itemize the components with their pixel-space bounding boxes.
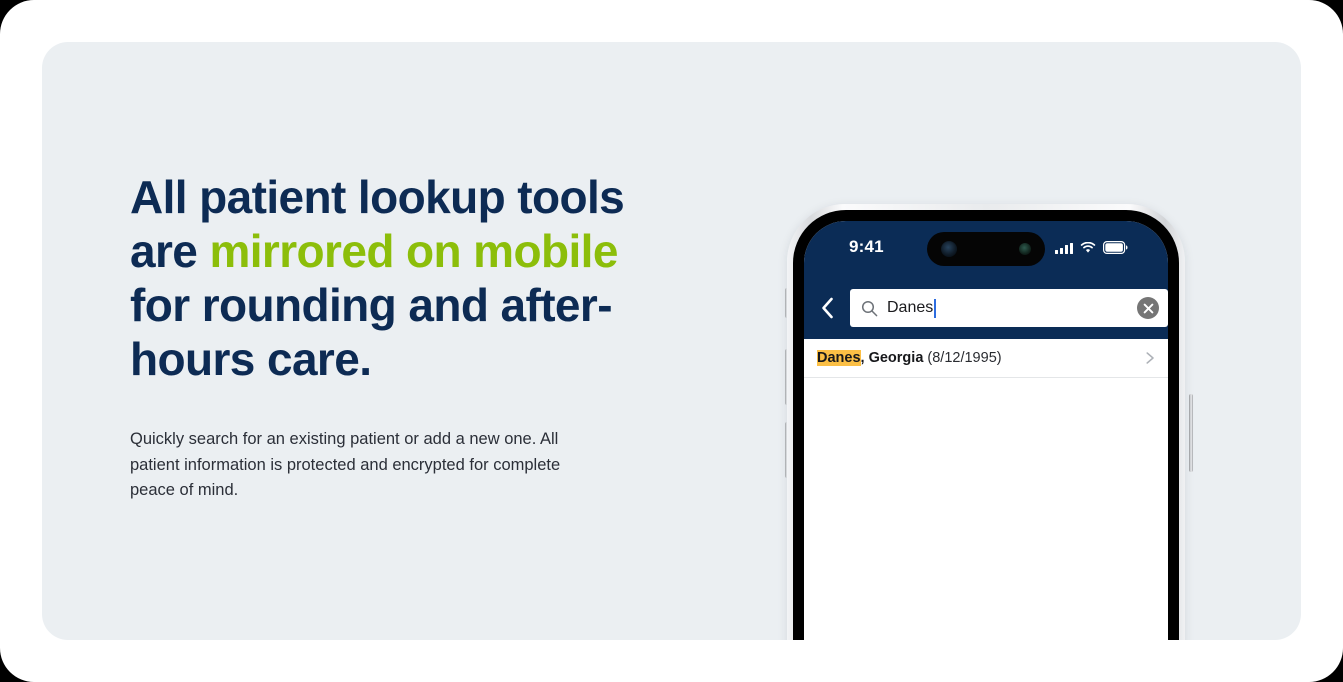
front-camera-icon: [941, 241, 957, 257]
phone-screen: 9:41: [804, 221, 1168, 640]
patient-dob: (8/12/1995): [923, 350, 1001, 366]
patient-result-label: Danes, Georgia (8/12/1995): [817, 350, 1144, 366]
clear-search-button[interactable]: [1137, 297, 1159, 319]
wifi-icon: [1080, 242, 1096, 254]
text-caret: [934, 299, 936, 318]
headline-accent: mirrored on mobile: [209, 225, 617, 277]
phone-mockup: 9:41: [787, 204, 1191, 640]
table-row[interactable]: Danes, Georgia (8/12/1995): [804, 339, 1168, 378]
battery-icon: [1103, 241, 1128, 254]
dynamic-island: [927, 232, 1045, 266]
marketing-page: All patient lookup tools are mirrored on…: [0, 0, 1343, 682]
subcopy-paragraph: Quickly search for an existing patient o…: [130, 386, 600, 504]
status-bar: 9:41: [804, 221, 1168, 277]
status-indicators: [1055, 240, 1128, 254]
chevron-right-icon: [1144, 352, 1156, 364]
feature-card: All patient lookup tools are mirrored on…: [42, 42, 1301, 640]
patient-name-rest: , Georgia: [861, 350, 924, 366]
status-time: 9:41: [849, 237, 884, 257]
search-icon: [861, 300, 878, 317]
clear-circle-icon: [1143, 303, 1154, 314]
face-id-sensor-icon: [1019, 243, 1031, 255]
chevron-left-icon: [821, 297, 834, 319]
search-results-list: Danes, Georgia (8/12/1995): [804, 339, 1168, 378]
app-header: 9:41: [804, 221, 1168, 339]
signal-bars-icon: [1055, 242, 1073, 254]
copy-column: All patient lookup tools are mirrored on…: [130, 170, 650, 504]
back-button[interactable]: [804, 277, 850, 339]
matched-term: Danes: [817, 350, 861, 366]
power-button[interactable]: [1189, 394, 1193, 472]
search-value-wrapper: Danes: [887, 299, 1137, 318]
search-bar-row: Danes: [804, 277, 1168, 339]
search-input-value: Danes: [887, 299, 933, 317]
headline-segment-2: for rounding and after-hours care.: [130, 279, 612, 385]
page-title: All patient lookup tools are mirrored on…: [130, 170, 650, 386]
search-input[interactable]: Danes: [850, 289, 1168, 327]
